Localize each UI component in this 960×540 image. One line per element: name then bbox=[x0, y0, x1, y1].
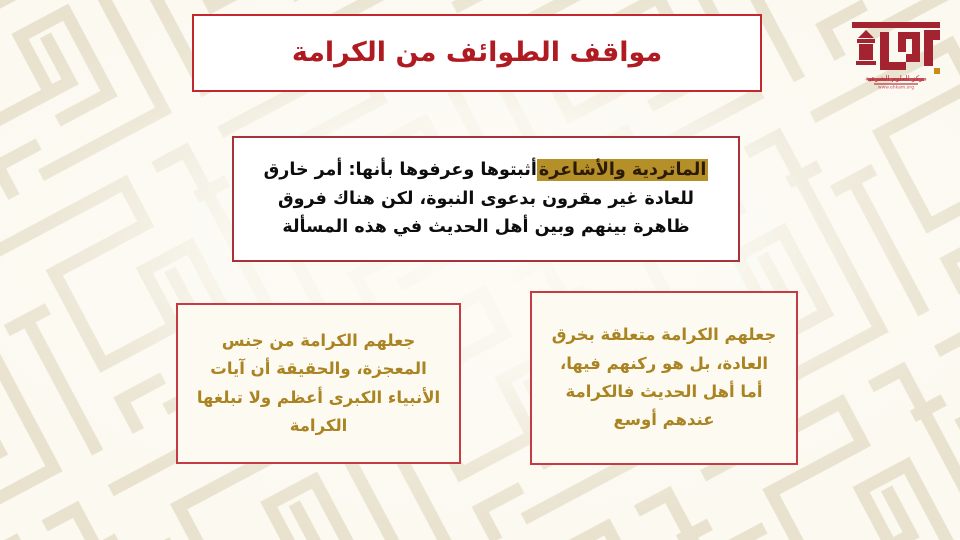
slide-canvas: مواقف الطوائف من الكرامة bbox=[0, 0, 960, 540]
branch-box-left: جعلهم الكرامة من جنس المعجزة، والحقيقة أ… bbox=[176, 303, 461, 464]
branch-box-right: جعلهم الكرامة متعلقة بخرق العادة، بل هو … bbox=[530, 291, 798, 465]
branch-right-text: جعلهم الكرامة متعلقة بخرق العادة، بل هو … bbox=[548, 321, 780, 435]
logo-subtitle-text: مركز للعلوم الشرعية bbox=[865, 75, 927, 83]
slide-title-box: مواقف الطوائف من الكرامة bbox=[192, 14, 762, 92]
top-statement-text: الماتردية والأشاعرةأثبتوها وعرفوها بأنها… bbox=[248, 156, 724, 241]
top-statement-box: الماتردية والأشاعرةأثبتوها وعرفوها بأنها… bbox=[232, 136, 740, 262]
branch-left-text: جعلهم الكرامة من جنس المعجزة، والحقيقة أ… bbox=[194, 327, 443, 441]
page-title: مواقف الطوائف من الكرامة bbox=[292, 37, 662, 69]
ihkam-logo: مركز للعلوم الشرعية www.ehkam.org bbox=[844, 18, 948, 94]
highlighted-school-label: الماتردية والأشاعرة bbox=[537, 159, 708, 181]
logo-url-text: www.ehkam.org bbox=[878, 85, 914, 91]
